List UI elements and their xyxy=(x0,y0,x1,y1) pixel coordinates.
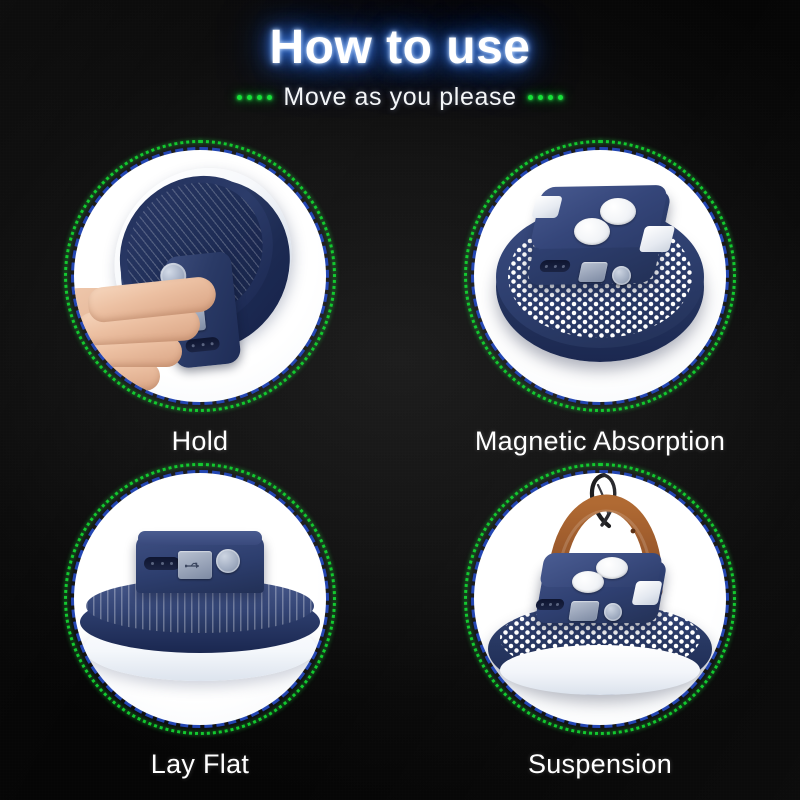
panel-magnetic-absorption-photo xyxy=(474,150,726,402)
led-dot-icon xyxy=(548,603,551,606)
magnet-puck-icon xyxy=(572,571,604,593)
panel-lay-flat-photo xyxy=(74,473,326,725)
lamp-side-view-icon xyxy=(74,473,326,725)
power-button-icon xyxy=(216,549,240,573)
led-dot-icon xyxy=(170,562,173,565)
green-dot-icon xyxy=(558,95,563,100)
panel-suspension-photo xyxy=(474,473,726,725)
green-dots-right xyxy=(528,95,563,100)
led-dot-icon xyxy=(151,562,154,565)
green-dot-icon xyxy=(528,95,533,100)
panel-suspension-circle xyxy=(464,463,736,735)
led-dot-icon xyxy=(545,265,549,268)
green-dot-icon xyxy=(257,95,262,100)
header: How to use Move as you please xyxy=(0,0,800,112)
white-clip-left xyxy=(531,196,562,218)
green-dot-icon xyxy=(247,95,252,100)
panel-magnetic-absorption-circle xyxy=(464,140,736,412)
panel-hold-photo xyxy=(74,150,326,402)
hand-holding-lamp-icon xyxy=(74,150,326,402)
led-indicator-icon xyxy=(535,599,565,610)
led-dot-icon xyxy=(161,562,164,565)
lamp-body-top xyxy=(138,531,262,545)
green-dot-icon xyxy=(538,95,543,100)
page-subtitle: Move as you please xyxy=(283,83,516,112)
power-button-icon xyxy=(612,266,631,285)
magnet-back-lamp-icon xyxy=(474,150,726,402)
panel-suspension-caption: Suspension xyxy=(528,749,672,780)
magnet-puck-icon xyxy=(574,218,610,245)
usb-cover-icon xyxy=(178,551,212,579)
green-dot-icon xyxy=(267,95,272,100)
panel-suspension: Suspension xyxy=(400,463,800,780)
subtitle-row: Move as you please xyxy=(0,83,800,112)
panel-hold: Hold xyxy=(0,140,400,457)
led-dot-icon xyxy=(556,603,559,606)
green-dot-icon xyxy=(237,95,242,100)
lamp-lens xyxy=(500,645,700,695)
magnet-puck-icon xyxy=(600,198,636,225)
panel-lay-flat: Lay Flat xyxy=(0,463,400,780)
page-title: How to use xyxy=(0,0,800,74)
panel-lay-flat-circle xyxy=(64,463,336,735)
usb-cover-icon xyxy=(568,601,599,621)
panel-hold-circle xyxy=(64,140,336,412)
panel-hold-caption: Hold xyxy=(172,426,229,457)
led-dot-icon xyxy=(561,265,565,268)
led-indicator-icon xyxy=(539,260,572,272)
panel-magnetic-absorption: Magnetic Absorption xyxy=(400,140,800,457)
green-dots-left xyxy=(237,95,272,100)
panel-lay-flat-caption: Lay Flat xyxy=(151,749,249,780)
panel-row-bottom: Lay Flat xyxy=(0,463,800,780)
led-dot-icon xyxy=(541,603,544,606)
hanging-lamp-strap-icon xyxy=(474,473,726,725)
usage-panel-grid: Hold xyxy=(0,140,800,780)
panel-magnetic-absorption-caption: Magnetic Absorption xyxy=(475,426,725,457)
usb-cover-icon xyxy=(578,262,608,282)
led-dot-icon xyxy=(553,265,557,268)
panel-row-top: Hold xyxy=(0,140,800,457)
led-indicator-icon xyxy=(144,557,180,570)
green-dot-icon xyxy=(548,95,553,100)
power-button-icon xyxy=(604,603,622,621)
usb-symbol-icon xyxy=(185,561,205,571)
human-hand xyxy=(74,278,254,398)
white-clip xyxy=(631,581,662,605)
